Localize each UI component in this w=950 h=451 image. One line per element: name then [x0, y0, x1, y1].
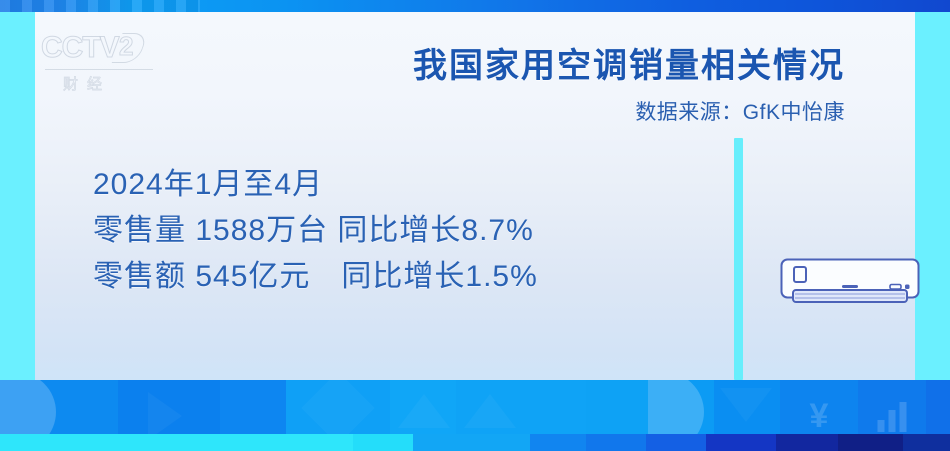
main-panel: CCTV 2 财经 我国家用空调销量相关情况 数据来源：GfK中怡康 2024年…	[35, 12, 915, 380]
stat-period: 2024年1月至4月	[93, 162, 538, 208]
logo-channel-number: 2	[119, 31, 133, 62]
logo-row: CCTV 2	[41, 28, 176, 68]
currency-yen-icon: ¥	[810, 399, 829, 433]
air-conditioner-icon	[780, 258, 920, 306]
band-bottom-tile	[646, 434, 706, 451]
band-bottom-tile	[107, 434, 199, 451]
logo-subtitle: 财经	[63, 73, 176, 94]
band-bottom-tile	[259, 434, 353, 451]
band-bottom-tile	[413, 434, 531, 451]
band-bottom-row	[0, 434, 950, 451]
right-cyan-rail	[915, 12, 950, 380]
band-bottom-tile	[903, 434, 950, 451]
page-title: 我国家用空调销量相关情况	[413, 38, 845, 87]
statistics-block: 2024年1月至4月 零售量 1588万台 同比增长8.7% 零售额 545亿元…	[93, 162, 538, 300]
band-bottom-tile	[353, 434, 413, 451]
left-cyan-rail	[0, 12, 35, 380]
triangle-shape	[464, 394, 516, 428]
stat-retail-volume: 零售量 1588万台 同比增长8.7%	[93, 208, 538, 254]
band-bottom-tile	[776, 434, 838, 451]
triangle-shape	[148, 392, 182, 440]
broadcast-infographic: CCTV 2 财经 我国家用空调销量相关情况 数据来源：GfK中怡康 2024年…	[0, 0, 950, 451]
vertical-divider	[734, 138, 743, 380]
logo-cctv-text: CCTV	[41, 29, 119, 67]
band-bottom-tile	[838, 434, 903, 451]
bottom-decorative-band: ¥	[0, 380, 950, 451]
band-bottom-tile	[706, 434, 777, 451]
band-bottom-tile	[530, 434, 586, 451]
bar-chart-icon	[878, 402, 907, 432]
logo-underline	[45, 69, 153, 70]
top-gradient-strip	[0, 0, 950, 12]
triangle-shape	[720, 388, 772, 422]
triangle-shape	[398, 394, 450, 428]
band-bottom-tile	[586, 434, 646, 451]
data-source-label: 数据来源：GfK中怡康	[635, 96, 845, 126]
band-bottom-tile	[199, 434, 259, 451]
stat-retail-value: 零售额 545亿元 同比增长1.5%	[93, 254, 538, 300]
cctv2-watermark-logo: CCTV 2 财经	[41, 28, 176, 96]
band-bottom-tile	[0, 434, 107, 451]
